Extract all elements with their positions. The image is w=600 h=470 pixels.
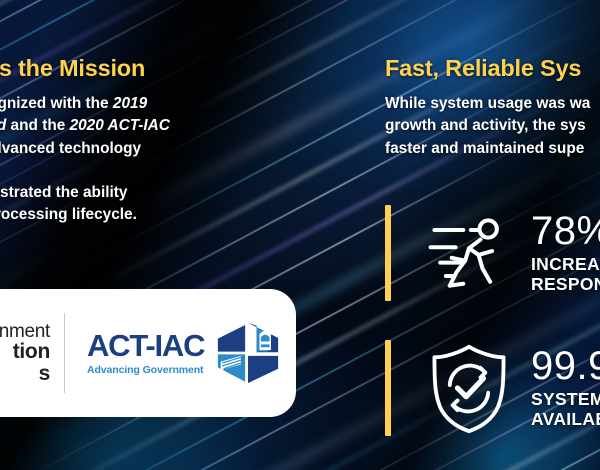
left-paragraph-1-line-2: nnovation Award and the 2020 ACT-IAC xyxy=(0,115,302,137)
stat-value: 99.97 xyxy=(531,346,600,386)
stat-label: INCREAS RESPON xyxy=(531,255,600,294)
left-paragraph-1-line-3: for deploying advanced technology xyxy=(0,138,302,160)
stat-label-line-1: SYSTEM xyxy=(531,390,600,410)
act-iac-tagline: Advancing Government xyxy=(87,364,204,376)
left-paragraph-2: ack Pilot demonstrated the ability from … xyxy=(0,182,302,226)
partner-logo-card: nment tion s ACT-IAC Advancing Governmen… xyxy=(0,289,296,417)
stat-label-line-2: AVAILAB xyxy=(531,410,600,430)
slide-canvas: at Improves the Mission n Awards: Recogn… xyxy=(0,0,600,470)
stat-text-response-time: 78% INCREAS RESPON xyxy=(531,211,600,294)
text-run: n Awards: Recognized with the xyxy=(0,95,113,112)
right-column: Fast, Reliable Sys While system usage wa… xyxy=(385,55,600,160)
shield-check-refresh-icon xyxy=(421,340,517,436)
actiac-cube-icon xyxy=(212,320,284,386)
government-innovation-awards-logo: nment tion s xyxy=(0,322,64,384)
stat-value: 78% xyxy=(531,211,600,251)
award-logo-line-1: nment xyxy=(0,322,50,341)
stat-block-response-time: 78% INCREAS RESPON xyxy=(385,205,600,301)
right-paragraph-line-2: growth and activity, the sys xyxy=(385,115,600,137)
right-paragraph: While system usage was wa growth and act… xyxy=(385,93,600,160)
act-iac-name: ACT-IAC xyxy=(87,330,204,361)
text-run: and the xyxy=(6,117,69,134)
running-person-icon xyxy=(421,205,517,301)
act-iac-wordmark: ACT-IAC Advancing Government xyxy=(87,330,204,376)
act-iac-logo: ACT-IAC Advancing Government xyxy=(65,320,284,386)
left-paragraph-2-line-1: ack Pilot demonstrated the ability xyxy=(0,182,302,204)
right-paragraph-line-3: faster and maintained supe xyxy=(385,138,600,160)
left-heading: at Improves the Mission xyxy=(0,55,302,81)
stat-accent-bar xyxy=(385,205,391,301)
award-logo-line-3: s xyxy=(39,363,50,384)
left-column: at Improves the Mission n Awards: Recogn… xyxy=(0,55,302,226)
stat-block-availability: 99.97 SYSTEM AVAILAB xyxy=(385,340,600,436)
text-run-emphasis: 2020 ACT-IAC xyxy=(70,117,170,134)
right-heading: Fast, Reliable Sys xyxy=(385,55,600,81)
stat-text-availability: 99.97 SYSTEM AVAILAB xyxy=(531,346,600,429)
award-logo-line-2: tion xyxy=(13,341,50,362)
text-run-emphasis: 2019 xyxy=(113,95,147,112)
right-paragraph-line-1: While system usage was wa xyxy=(385,93,600,115)
stat-accent-bar xyxy=(385,340,391,436)
left-paragraph-1: n Awards: Recognized with the 2019 nnova… xyxy=(0,93,302,160)
left-paragraph-2-line-2: from the NCC processing lifecycle. xyxy=(0,204,302,226)
left-paragraph-1-line-1: n Awards: Recognized with the 2019 xyxy=(0,93,302,115)
stat-label: SYSTEM AVAILAB xyxy=(531,390,600,429)
stat-label-line-2: RESPON xyxy=(531,275,600,295)
stat-label-line-1: INCREAS xyxy=(531,255,600,275)
